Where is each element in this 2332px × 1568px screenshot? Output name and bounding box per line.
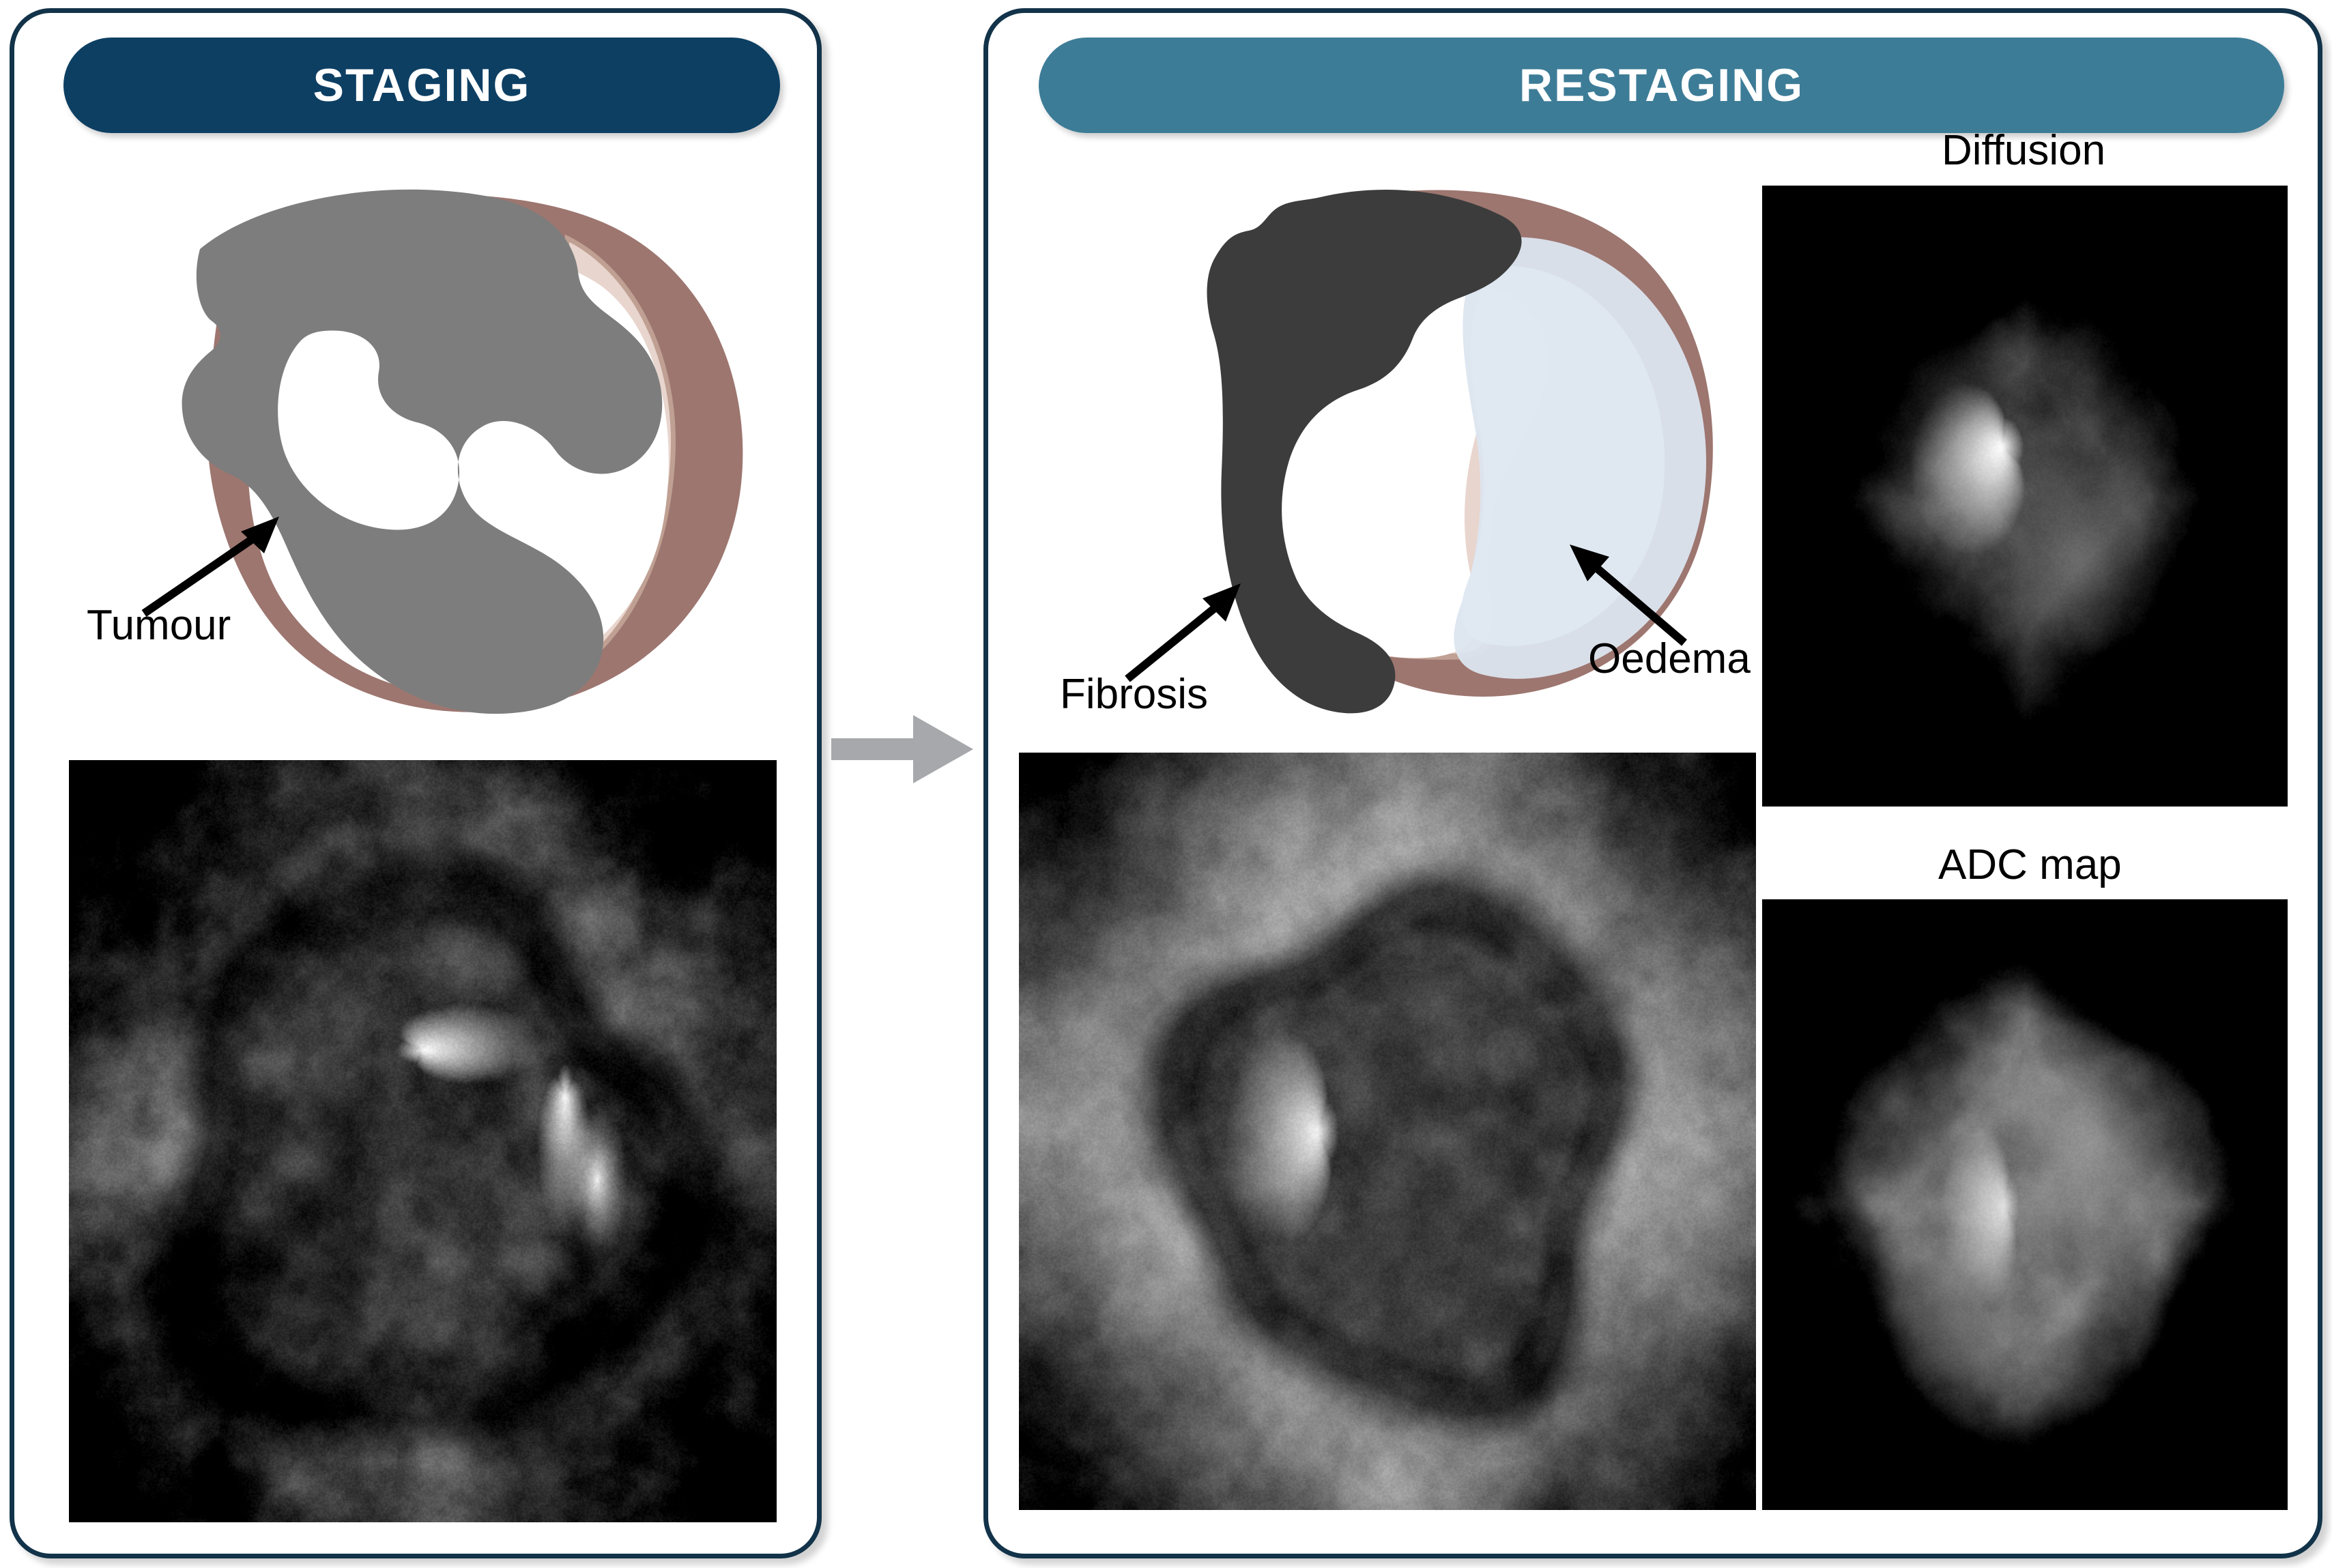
diffusion-mri-image — [1762, 186, 2288, 807]
fibrosis-callout-arrow — [1119, 577, 1249, 686]
staging-mri-canvas — [69, 760, 777, 1522]
staging-header-pill: STAGING — [63, 38, 780, 133]
staging-panel: STAGING Tumour — [10, 8, 822, 1558]
transition-right-arrow-icon — [831, 708, 977, 790]
tumour-label: Tumour — [87, 601, 231, 650]
restaging-header-pill: RESTAGING — [1039, 38, 2284, 133]
oedema-callout-arrow — [1563, 539, 1693, 648]
adc-map-mri-image — [1762, 899, 2288, 1510]
adc-mri-canvas — [1762, 899, 2288, 1510]
restaging-mri-canvas — [1019, 753, 1756, 1510]
diffusion-image-label: Diffusion — [1942, 126, 2105, 175]
adc-map-image-label: ADC map — [1938, 841, 2122, 889]
diffusion-mri-canvas — [1762, 186, 2288, 807]
staging-t2-mri-image — [69, 760, 777, 1522]
fibrosis-label: Fibrosis — [1060, 670, 1208, 718]
restaging-t2-mri-image — [1019, 753, 1756, 1510]
oedema-label: Oedema — [1588, 635, 1751, 683]
